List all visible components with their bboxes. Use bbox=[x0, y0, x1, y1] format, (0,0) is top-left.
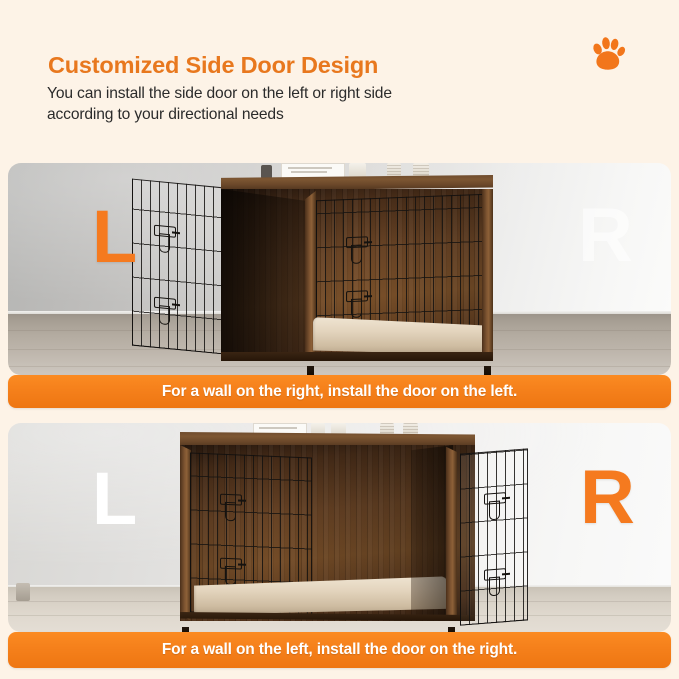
crate-right-post bbox=[446, 445, 457, 621]
crate-latch-lower bbox=[344, 290, 370, 321]
letter-R-highlighted: R bbox=[580, 460, 635, 536]
wire-side-door-open-left bbox=[132, 179, 224, 355]
wire-side-door-open-right bbox=[460, 448, 528, 625]
crate-latch-upper bbox=[218, 494, 244, 525]
crate-bottom-rail bbox=[221, 352, 493, 361]
crate-body bbox=[221, 189, 493, 361]
letter-L-ghost: L bbox=[92, 462, 137, 536]
dog-crate-furniture bbox=[221, 175, 493, 367]
crate-latch-upper bbox=[344, 236, 370, 267]
floor-object bbox=[16, 583, 30, 601]
letter-L-highlighted: L bbox=[92, 200, 137, 274]
door-latch-upper bbox=[482, 492, 508, 524]
caption-right-door: For a wall on the left, install the door… bbox=[8, 632, 671, 668]
caption-left-door: For a wall on the right, install the doo… bbox=[8, 375, 671, 408]
crate-body bbox=[180, 445, 475, 621]
header: Customized Side Door Design You can inst… bbox=[0, 0, 679, 163]
subtitle-line-1: You can install the side door on the lef… bbox=[47, 84, 567, 105]
crate-leg-left bbox=[307, 366, 314, 375]
door-latch-lower bbox=[482, 568, 508, 600]
paw-print-icon bbox=[590, 36, 626, 74]
door-latch-lower bbox=[152, 296, 178, 329]
letter-R-ghost: R bbox=[578, 198, 633, 274]
page-subtitle: You can install the side door on the lef… bbox=[47, 84, 567, 125]
dog-crate-furniture bbox=[180, 432, 475, 628]
crate-leg-right bbox=[484, 366, 491, 375]
door-latch-upper bbox=[152, 224, 178, 257]
infographic-page: Customized Side Door Design You can inst… bbox=[0, 0, 679, 679]
crate-right-post bbox=[482, 189, 493, 361]
subtitle-line-2: according to your directional needs bbox=[47, 105, 567, 126]
panel-left-door: L R bbox=[8, 163, 671, 375]
crate-open-left-side bbox=[221, 189, 307, 361]
panel-right-door: L R bbox=[8, 423, 671, 632]
page-title: Customized Side Door Design bbox=[48, 52, 378, 79]
